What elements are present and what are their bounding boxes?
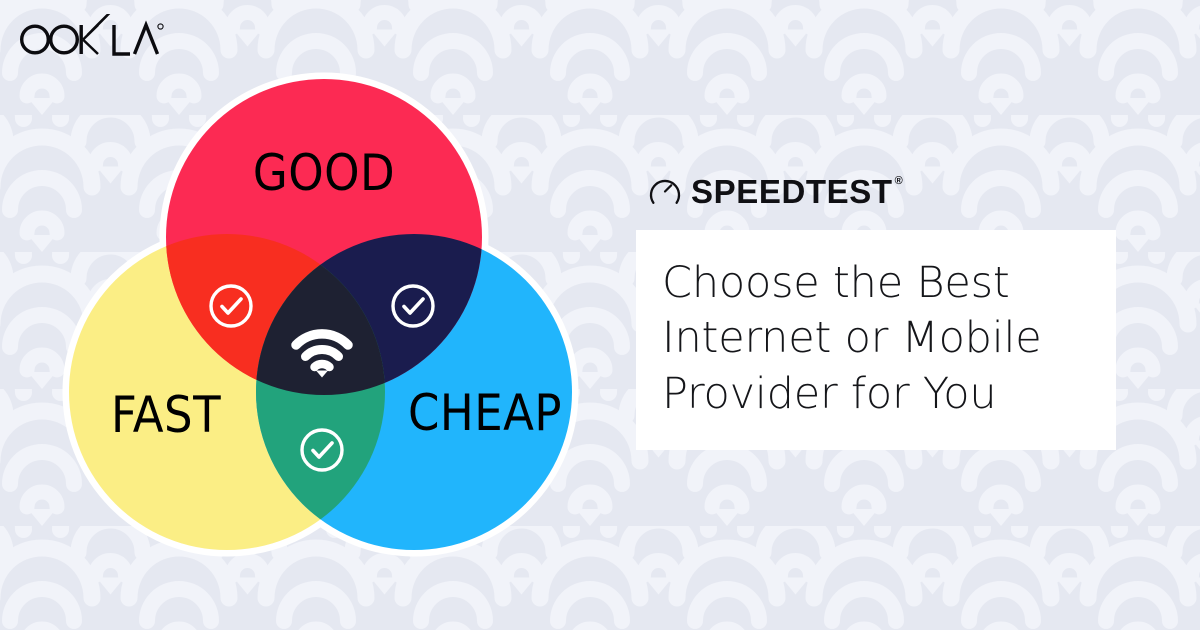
registered-trademark-icon: ® bbox=[895, 175, 903, 187]
speedtest-logo[interactable]: SPEEDTEST ® bbox=[648, 168, 1126, 214]
venn-label-fast: FAST bbox=[111, 386, 221, 444]
right-content-column: SPEEDTEST ® Choose the Best Internet or … bbox=[636, 168, 1126, 450]
headline-card: Choose the Best Internet or Mobile Provi… bbox=[636, 230, 1116, 450]
headline-line-3: Provider for You bbox=[662, 367, 1090, 422]
promo-banner: GOOD FAST CHEAP bbox=[0, 0, 1200, 630]
venn-label-cheap: CHEAP bbox=[408, 384, 562, 442]
headline-line-2: Internet or Mobile bbox=[662, 311, 1090, 366]
venn-diagram: GOOD FAST CHEAP bbox=[40, 55, 620, 585]
headline-line-1: Choose the Best bbox=[662, 256, 1090, 311]
speedometer-gauge-icon bbox=[648, 174, 682, 208]
venn-label-good: GOOD bbox=[253, 144, 395, 202]
speedtest-wordmark: SPEEDTEST bbox=[691, 175, 893, 208]
